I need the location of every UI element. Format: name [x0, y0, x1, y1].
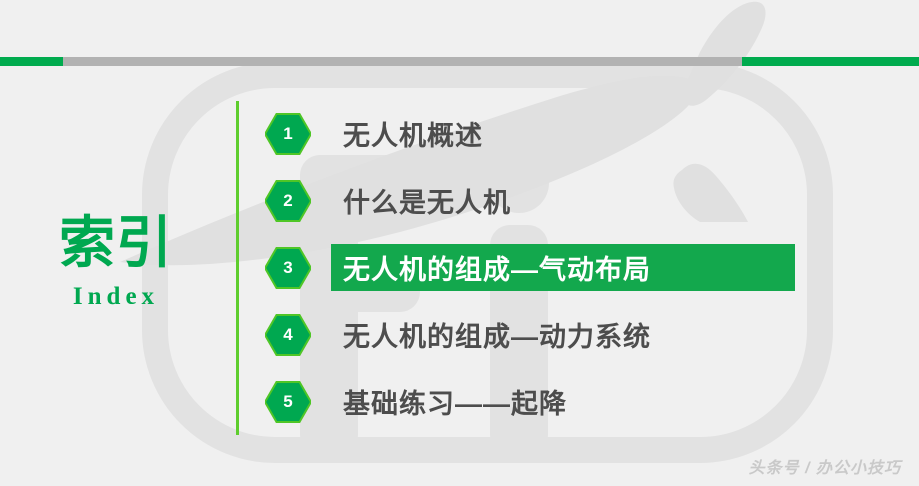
source-watermark: 头条号 / 办公小技巧 [749, 454, 901, 478]
number-badge: 5 [265, 379, 311, 425]
badge-number: 5 [283, 393, 292, 411]
list-item-label: 什么是无人机 [343, 181, 511, 220]
list-item[interactable]: 1 无人机概述 [265, 100, 905, 167]
top-rule [0, 57, 919, 66]
number-badge: 1 [265, 111, 311, 157]
index-list: 1 无人机概述 2 什么是无人机 3 无人机的组成—气动布局 [265, 100, 905, 435]
number-badge: 4 [265, 312, 311, 358]
slide-title-block: 索引 Index [0, 214, 232, 311]
badge-number: 3 [283, 259, 292, 277]
top-rule-segment-gray [63, 57, 742, 66]
number-badge: 2 [265, 178, 311, 224]
vertical-divider [236, 101, 239, 435]
number-badge: 3 [265, 245, 311, 291]
badge-number: 4 [283, 326, 292, 344]
list-item[interactable]: 5 基础练习——起降 [265, 368, 905, 435]
list-item[interactable]: 4 无人机的组成—动力系统 [265, 301, 905, 368]
list-item-label: 无人机的组成—动力系统 [343, 315, 651, 354]
top-rule-segment-green-left [0, 57, 63, 66]
list-item-label: 无人机概述 [343, 114, 483, 153]
page-title-en: Index [0, 283, 232, 311]
list-item-label: 无人机的组成—气动布局 [343, 248, 651, 287]
badge-number: 2 [283, 192, 292, 210]
badge-number: 1 [283, 125, 292, 143]
list-item-selected[interactable]: 3 无人机的组成—气动布局 [265, 234, 905, 301]
slide-canvas: 索引 Index 1 无人机概述 2 什么是无人机 [0, 0, 919, 486]
list-item-label: 基础练习——起降 [343, 382, 567, 421]
top-rule-segment-green-right [742, 57, 919, 66]
list-item[interactable]: 2 什么是无人机 [265, 167, 905, 234]
page-title-cn: 索引 [0, 214, 232, 271]
